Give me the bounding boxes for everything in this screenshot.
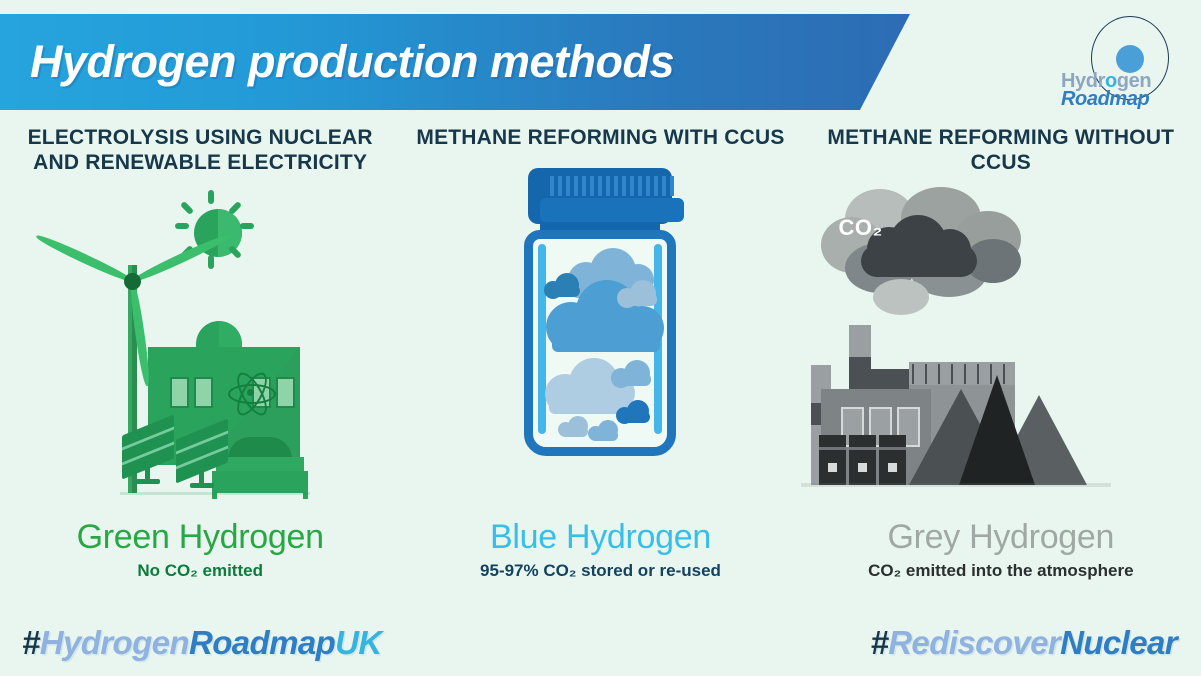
subtitle-grey-hydrogen: CO₂ emitted into the atmosphere	[801, 561, 1201, 581]
infographic-canvas: Hydrogen production methods Hydrogen Roa…	[0, 0, 1201, 676]
hashtag-part-uk: UK	[335, 624, 381, 661]
methods-row: ELECTROLYSIS USING NUCLEAR AND RENEWABLE…	[0, 125, 1201, 605]
label-green-hydrogen: Green Hydrogen	[0, 517, 400, 557]
column-heading-green: ELECTROLYSIS USING NUCLEAR AND RENEWABLE…	[0, 125, 400, 175]
factory-icon	[801, 307, 1131, 487]
hydrogen-roadmap-logo: Hydrogen Roadmap	[1061, 12, 1181, 112]
column-footer-green: Green Hydrogen No CO₂ emitted	[0, 517, 400, 581]
co2-label: CO₂	[801, 215, 921, 241]
label-grey-hydrogen: Grey Hydrogen	[801, 517, 1201, 557]
hashtag-part-rediscover: Rediscover	[888, 624, 1060, 661]
label-blue-hydrogen: Blue Hydrogen	[400, 517, 800, 557]
solar-panel-icon	[122, 425, 174, 483]
hash-symbol: #	[22, 624, 40, 661]
page-title: Hydrogen production methods	[30, 36, 674, 88]
column-heading-grey: METHANE REFORMING WITHOUT CCUS	[801, 125, 1201, 175]
grey-illustration: CO₂	[801, 187, 1201, 487]
hashtag-hydrogenroadmapuk: #HydrogenRoadmapUK	[22, 624, 382, 662]
solar-panel-icon	[176, 429, 228, 487]
column-heading-blue: METHANE REFORMING WITH CCUS	[400, 125, 800, 150]
subtitle-green-hydrogen: No CO₂ emitted	[0, 561, 400, 581]
hashtag-rediscovernuclear: #RediscoverNuclear	[870, 624, 1177, 662]
atom-icon	[228, 372, 272, 412]
nucleus-icon	[1116, 45, 1144, 73]
blue-illustration	[400, 162, 800, 462]
barrel-icon	[849, 435, 876, 485]
logo-wordmark-roadmap: Roadmap	[1061, 88, 1149, 111]
jar-icon	[516, 168, 684, 458]
subtitle-blue-hydrogen: 95-97% CO₂ stored or re-used	[400, 561, 800, 581]
hash-symbol: #	[870, 624, 888, 661]
jar-lid	[528, 168, 672, 224]
column-grey-hydrogen: METHANE REFORMING WITHOUT CCUS	[801, 125, 1201, 605]
column-green-hydrogen: ELECTROLYSIS USING NUCLEAR AND RENEWABLE…	[0, 125, 400, 605]
barrel-icon	[879, 435, 906, 485]
ground-line	[801, 483, 1111, 487]
coal-pile-icon	[959, 375, 1035, 485]
hashtag-part-nuclear: Nuclear	[1060, 624, 1177, 661]
hashtag-part-roadmap: Roadmap	[189, 624, 335, 661]
ground-line	[120, 492, 310, 495]
jar-highlight-left	[538, 244, 546, 434]
hashtag-part-hydrogen: Hydrogen	[40, 624, 189, 661]
column-blue-hydrogen: METHANE REFORMING WITH CCUS	[400, 125, 800, 605]
green-illustration	[0, 187, 400, 487]
barrel-icon	[819, 435, 846, 485]
column-footer-blue: Blue Hydrogen 95-97% CO₂ stored or re-us…	[400, 517, 800, 581]
column-footer-grey: Grey Hydrogen CO₂ emitted into the atmos…	[801, 517, 1201, 581]
footer-hashtags: #HydrogenRoadmapUK #RediscoverNuclear	[0, 612, 1201, 662]
title-banner: Hydrogen production methods	[0, 14, 910, 110]
